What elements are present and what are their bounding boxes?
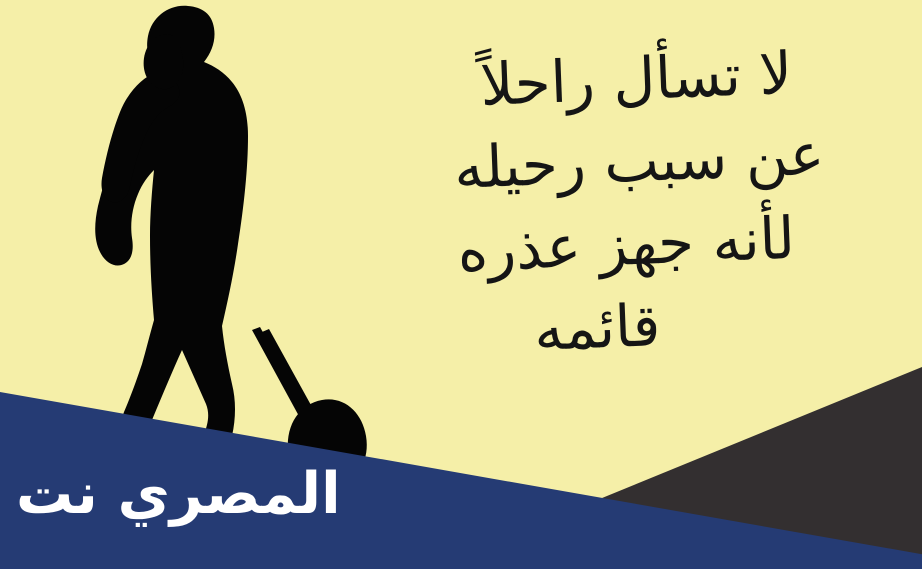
poster-image: لا تسأل راحلاً عن سبب رحيله لأنه جهز عذر… [0,0,922,569]
quote-text: لا تسأل راحلاً عن سبب رحيله لأنه جهز عذر… [386,28,896,357]
watermark-logo: المصري نت [16,466,341,523]
